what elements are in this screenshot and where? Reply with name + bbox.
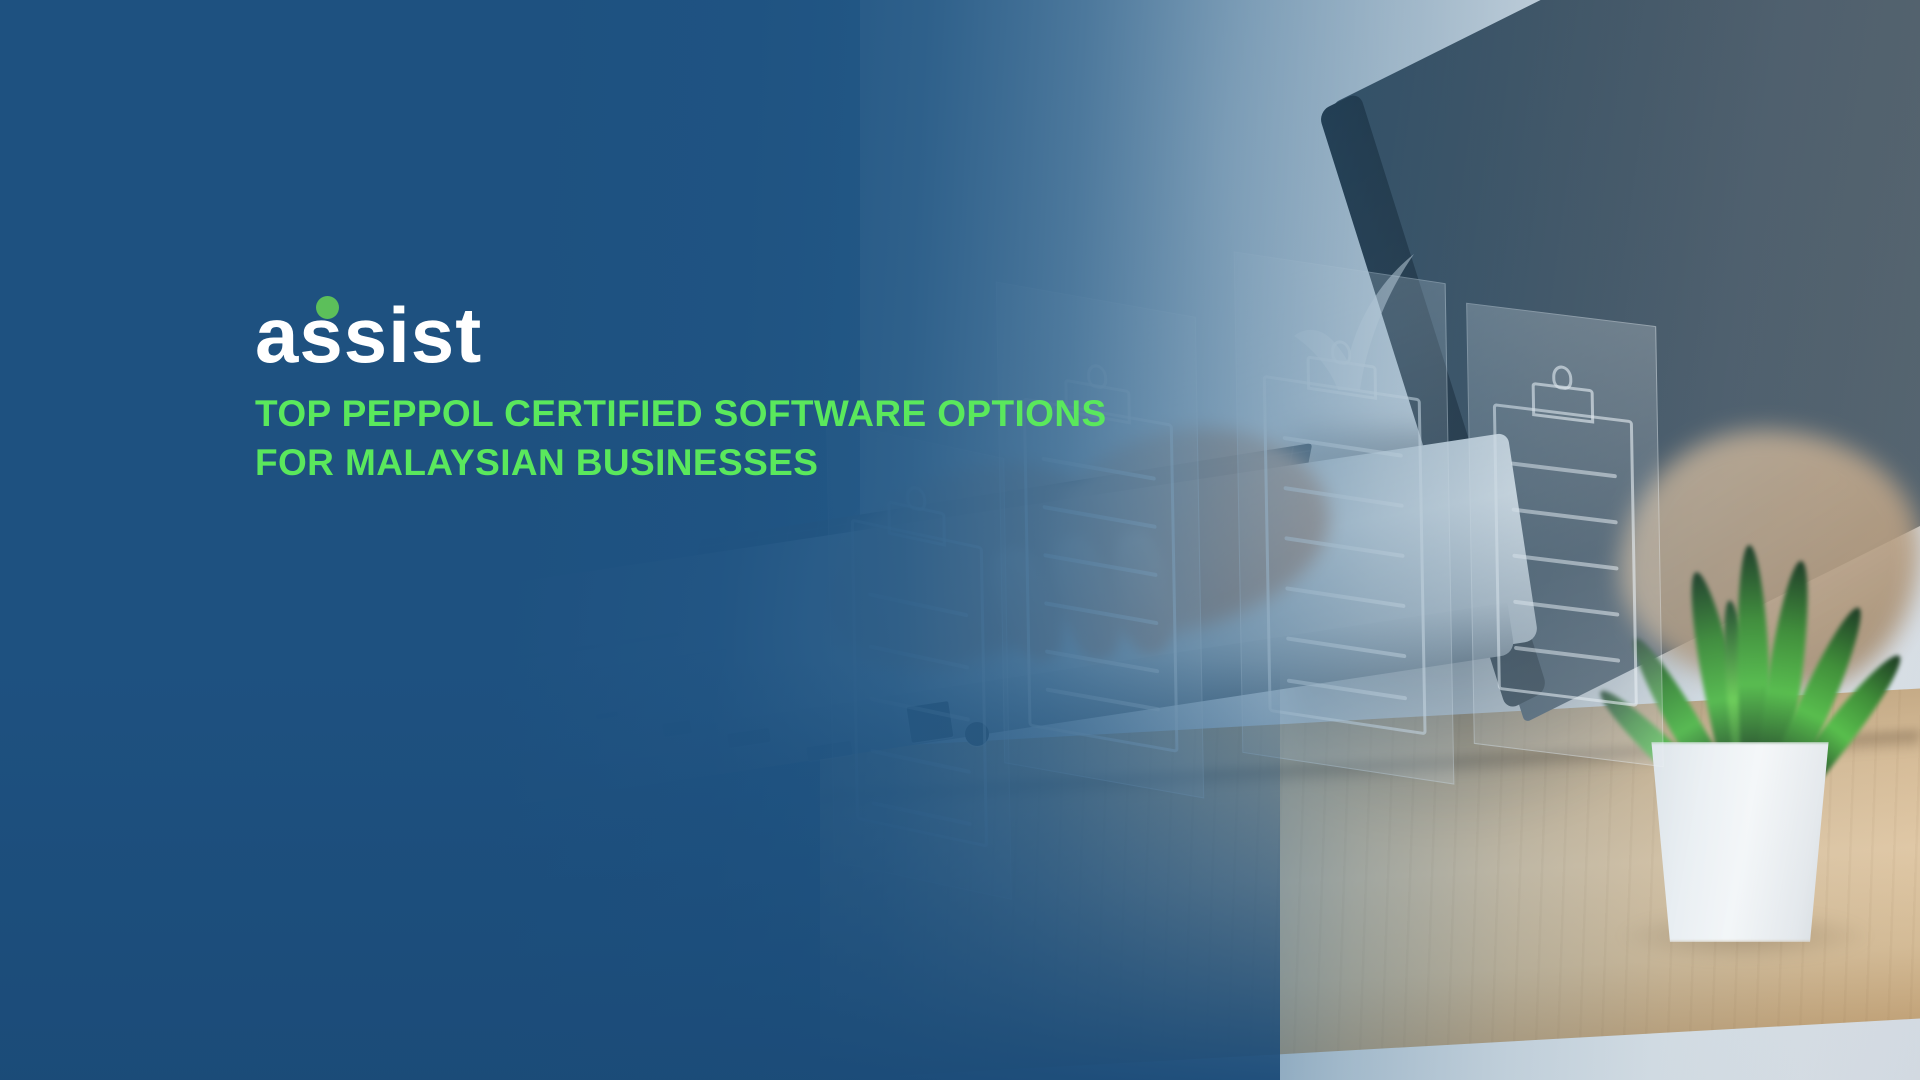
page-title: TOP PEPPOL CERTIFIED SOFTWARE OPTIONS FO…	[255, 390, 1115, 488]
headline-line-2: FOR MALAYSIAN BUSINESSES	[255, 439, 1115, 488]
logo-wordmark: assist	[255, 296, 482, 374]
headline-line-1: TOP PEPPOL CERTIFIED SOFTWARE OPTIONS	[255, 390, 1115, 439]
banner-content: assist TOP PEPPOL CERTIFIED SOFTWARE OPT…	[255, 282, 1255, 488]
bottom-gradient-tint	[0, 660, 1280, 1080]
promo-banner: assist TOP PEPPOL CERTIFIED SOFTWARE OPT…	[0, 0, 1920, 1080]
assist-logo[interactable]: assist	[255, 282, 1255, 362]
